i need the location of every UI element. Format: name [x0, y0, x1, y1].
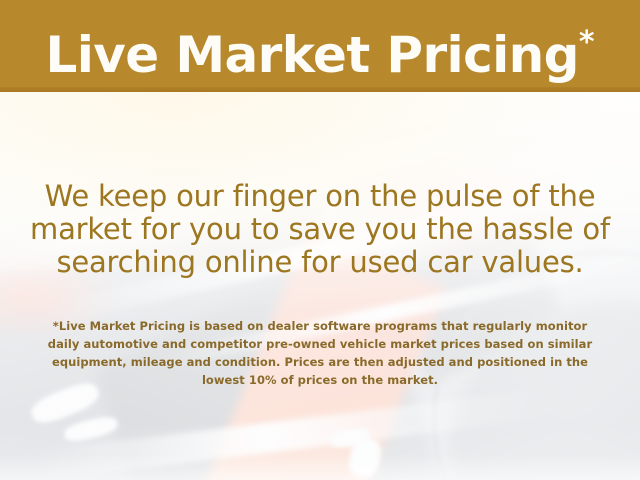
headline-line-2: market for you to save you the hassle of — [30, 212, 610, 246]
page-title: Live Market Pricing* — [0, 12, 640, 86]
disclaimer-line-4: lowest 10% of prices on the market. — [28, 371, 612, 389]
headline-line-1: We keep our finger on the pulse of the — [45, 179, 596, 213]
footnote-marker: * — [579, 25, 595, 60]
header-band: Live Market Pricing* — [0, 0, 640, 92]
disclaimer-line-3: equipment, mileage and condition. Prices… — [28, 353, 612, 371]
disclaimer-line-2: daily automotive and competitor pre-owne… — [28, 335, 612, 353]
disclaimer: *Live Market Pricing is based on dealer … — [28, 317, 612, 389]
headline: We keep our finger on the pulse of the m… — [26, 180, 614, 279]
page-title-text: Live Market Pricing — [45, 26, 578, 84]
headline-line-3: searching online for used car values. — [56, 245, 583, 279]
disclaimer-line-1: *Live Market Pricing is based on dealer … — [28, 317, 612, 335]
photo-bottom-fade — [0, 454, 640, 480]
live-market-pricing-slide: Live Market Pricing* We keep our finger … — [0, 0, 640, 480]
